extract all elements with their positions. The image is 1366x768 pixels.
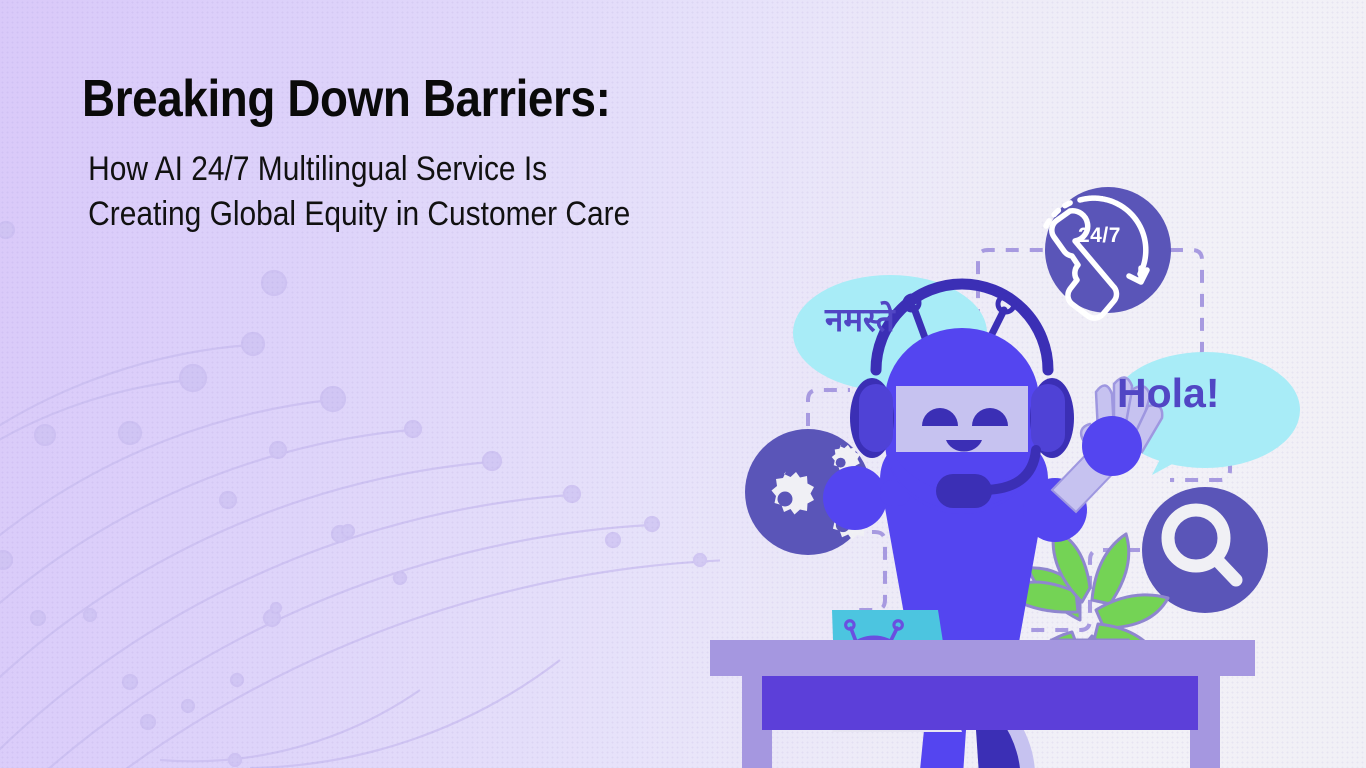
- banner-root: Breaking Down Barriers: How AI 24/7 Mult…: [0, 0, 1366, 768]
- page-title: Breaking Down Barriers:: [82, 72, 698, 127]
- robot-waving-hand: [1081, 377, 1162, 476]
- connector-247-to-hola: [1170, 250, 1202, 360]
- badge-search: [1142, 487, 1268, 613]
- subtitle-block: How AI 24/7 Multilingual Service Is Crea…: [82, 147, 782, 239]
- subtitle-line-1: How AI 24/7 Multilingual Service Is: [82, 147, 698, 193]
- connector-gears-to-laptop: [848, 532, 885, 610]
- desk-front-panel: [762, 676, 1198, 730]
- illustration-ai-support-robot: [700, 150, 1366, 768]
- badge-phone-247: [1045, 187, 1171, 318]
- desk-top: [710, 640, 1255, 676]
- robot-left-hand: [823, 466, 887, 530]
- subtitle-line-2: Creating Global Equity in Customer Care: [82, 192, 698, 238]
- headset-mic: [936, 474, 992, 508]
- headline-block: Breaking Down Barriers: How AI 24/7 Mult…: [82, 72, 782, 238]
